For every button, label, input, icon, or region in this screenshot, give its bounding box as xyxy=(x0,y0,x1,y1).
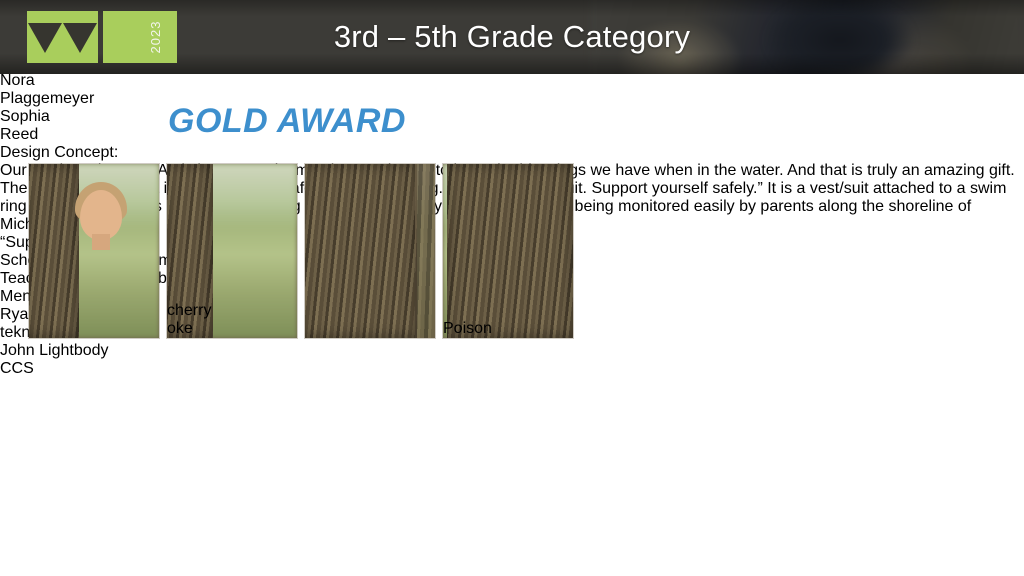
photo-tree-trunk xyxy=(305,164,417,338)
photo-tree-trunk xyxy=(447,164,573,338)
logo-m-notch-right xyxy=(63,23,97,53)
award-heading: GOLD AWARD xyxy=(168,102,406,141)
logo-year-label: 2023 xyxy=(148,21,163,54)
student-shirt xyxy=(51,242,155,338)
student-photo-3 xyxy=(305,164,435,338)
student-photo-1 xyxy=(29,164,159,338)
shirt-text-cherry: cherry xyxy=(167,302,211,320)
student-photo-4: Poison xyxy=(443,164,573,338)
header-band: 3rd – 5th Grade Category 2023 xyxy=(0,0,1024,74)
mentor-logo-2: CCS xyxy=(0,360,1024,378)
student-first-name: Nora xyxy=(0,72,1024,90)
ccs-wordmark: CCS xyxy=(0,360,1024,378)
millennium-logo: 2023 xyxy=(27,11,177,63)
student-last-name: Reed xyxy=(0,126,1024,144)
logo-m-block xyxy=(27,11,98,63)
student-last-name: Plaggemeyer xyxy=(0,90,1024,108)
shirt-text-poison: Poison xyxy=(443,320,492,338)
student-face xyxy=(80,190,122,240)
shirt-cherry-coke-graphic: cherry oke xyxy=(167,302,211,338)
shirt-text-coke: oke xyxy=(167,320,211,338)
ccs-logo: CCS xyxy=(0,360,1024,378)
student-first-name: Sophia xyxy=(0,108,1024,126)
student-photo-2: cherry oke xyxy=(167,164,297,338)
logo-m-notch-left xyxy=(28,23,62,53)
student-shirt: cherry oke xyxy=(167,302,211,338)
mentor-name-2: John Lightbody xyxy=(0,342,1024,360)
student-shirt: Poison xyxy=(443,320,492,338)
design-concept-heading: Design Concept: xyxy=(0,144,1024,162)
logo-year-block: 2023 xyxy=(103,11,177,63)
photo-tree-trunk-secondary xyxy=(415,164,435,338)
mentor-column-2: John Lightbody CCS xyxy=(0,342,1024,378)
student-name-4: Sophia Reed xyxy=(0,108,1024,144)
student-photo-strip: cherry oke xyxy=(29,164,585,338)
student-name-3: Nora Plaggemeyer xyxy=(0,72,1024,108)
